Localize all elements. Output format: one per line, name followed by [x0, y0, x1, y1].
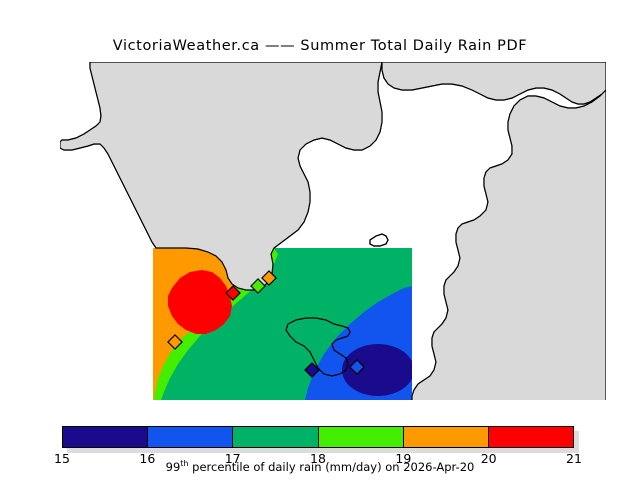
page-title: VictoriaWeather.ca —— Summer Total Daily…: [0, 38, 640, 54]
field-bottom-edge: [60, 400, 606, 402]
weather-map-page: VictoriaWeather.ca —— Summer Total Daily…: [0, 0, 640, 480]
map-panel: [60, 62, 606, 402]
colorbar-band-19-20: [403, 427, 488, 447]
colorbar-caption: 99th percentile of daily rain (mm/day) o…: [0, 459, 640, 474]
colorbar-band-15-16: [63, 427, 147, 447]
colorbar-band-20-21: [488, 427, 573, 447]
colorbar-band-18-19: [318, 427, 403, 447]
caption-text: percentile of daily rain (mm/day) on 202…: [189, 460, 475, 474]
contour-field: [153, 248, 414, 400]
colorbar-band-17-18: [232, 427, 317, 447]
colorbar-band-16-17: [147, 427, 232, 447]
colorbar: [62, 426, 574, 448]
colorbar-bands: [62, 426, 574, 448]
map-figure: [60, 62, 606, 402]
caption-ordinal-suffix: th: [180, 459, 188, 468]
caption-prefix: 99: [166, 460, 181, 474]
